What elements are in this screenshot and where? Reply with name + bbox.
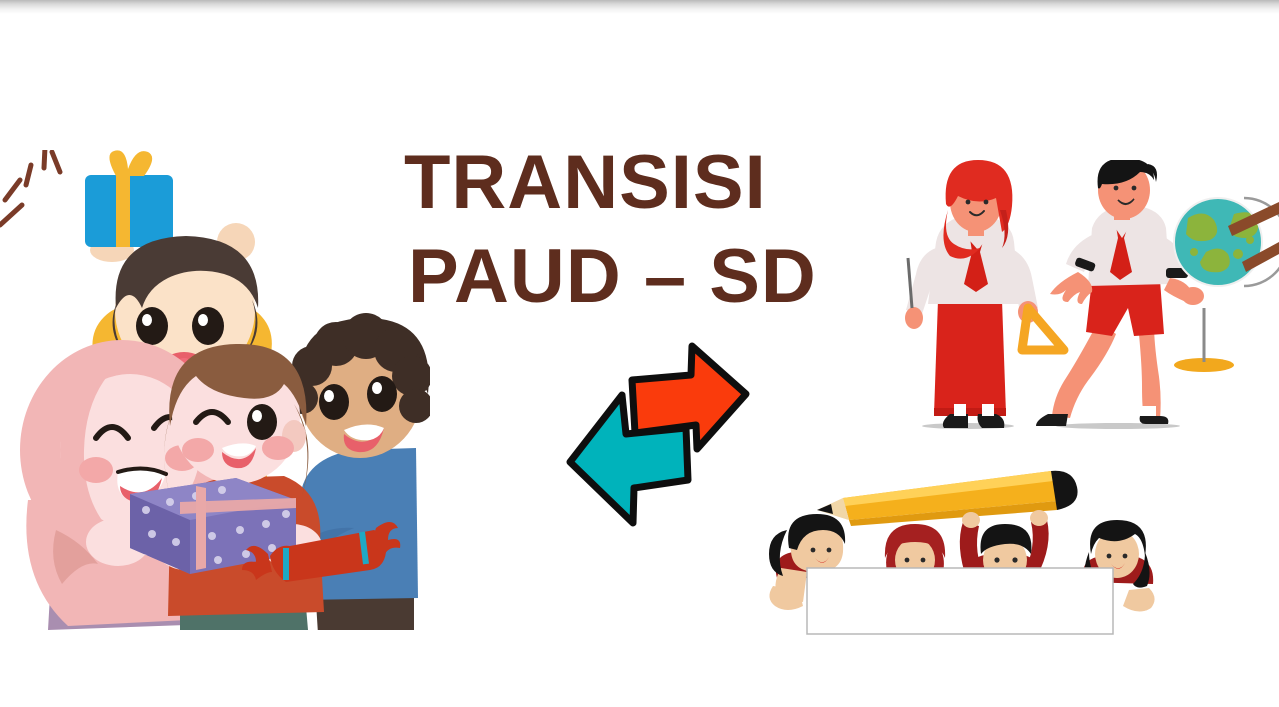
banner-children-group <box>765 468 1165 648</box>
blue-gift-box <box>85 150 173 247</box>
left-children-group <box>0 150 430 630</box>
title-line-1: TRANSISI <box>404 136 894 230</box>
sparkle-icon <box>0 150 60 225</box>
globe-icon <box>1174 198 1279 372</box>
triangle-instrument-icon <box>1022 308 1064 350</box>
blank-banner <box>807 568 1113 634</box>
top-edge-shadow <box>0 0 1279 14</box>
student-girl-hijab <box>905 160 1064 428</box>
student-boy-globe <box>1036 160 1279 426</box>
page-title: TRANSISI PAUD – SD <box>404 136 894 324</box>
slide-canvas: TRANSISI PAUD – SD <box>0 0 1279 707</box>
title-line-2: PAUD – SD <box>404 230 894 324</box>
right-students-group <box>870 160 1279 450</box>
two-way-arrows <box>560 330 760 540</box>
